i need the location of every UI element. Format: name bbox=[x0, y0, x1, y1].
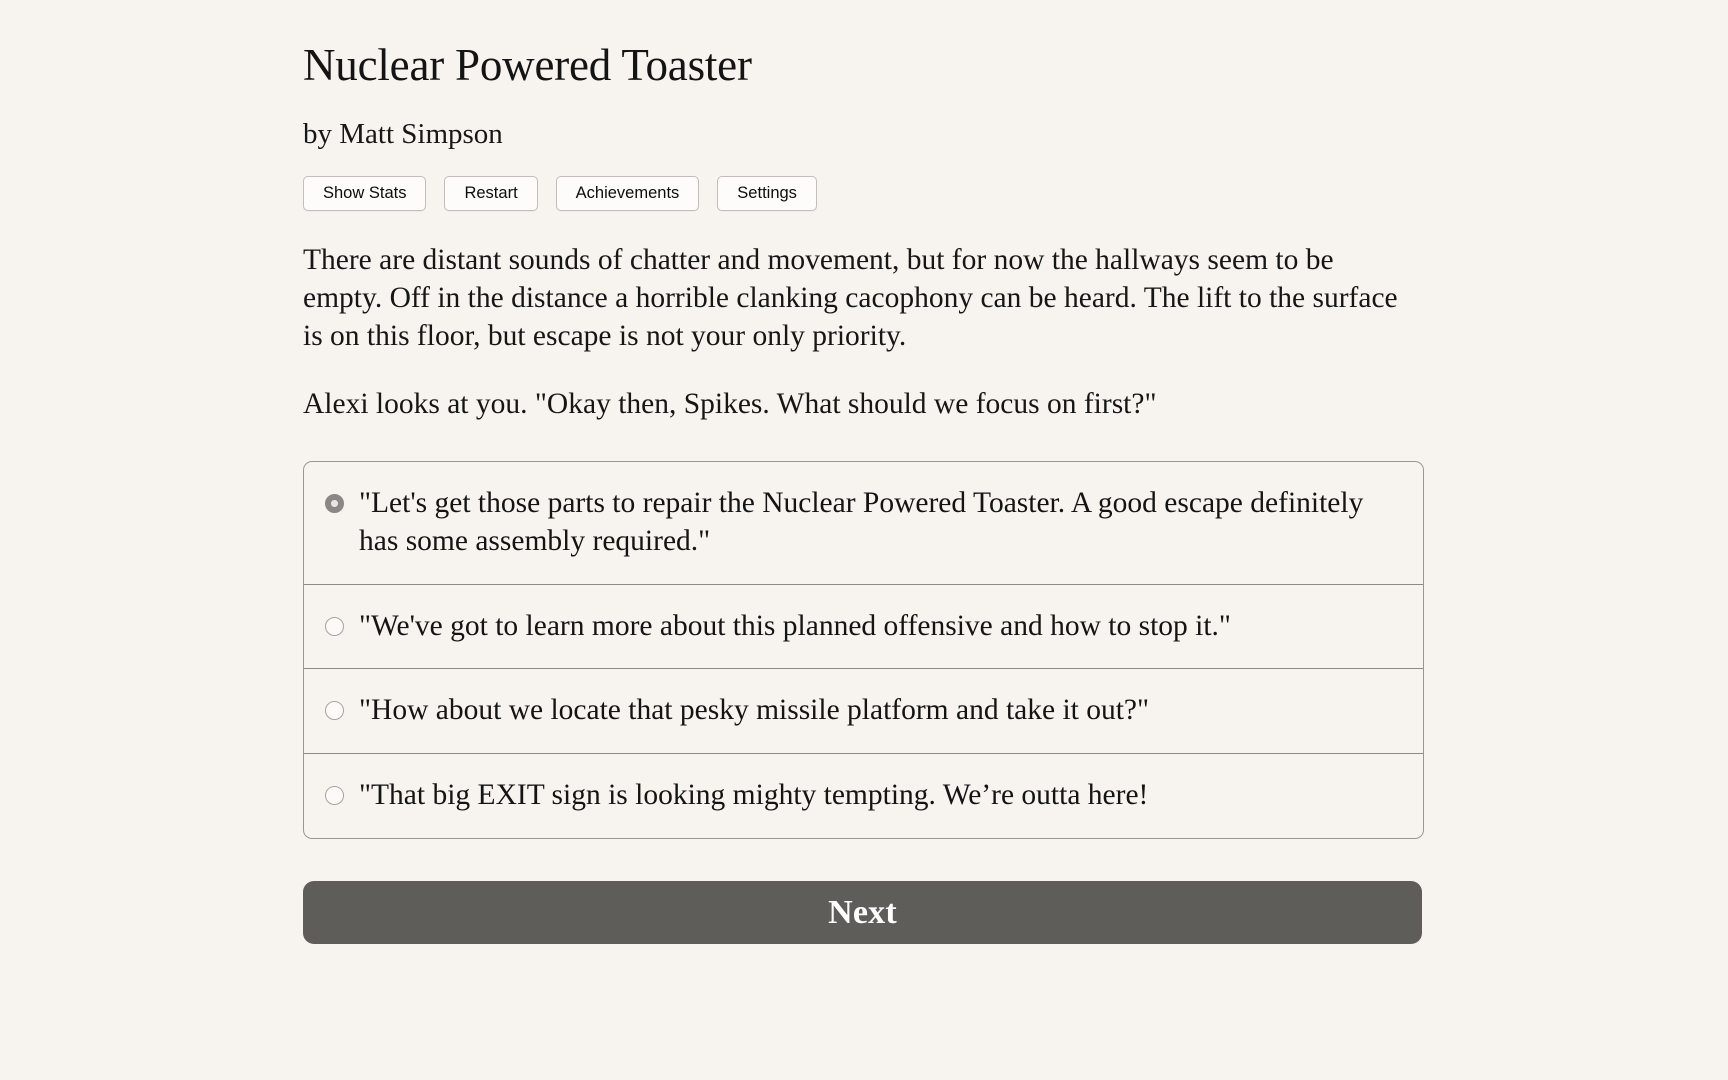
narrative-paragraph: Alexi looks at you. "Okay then, Spikes. … bbox=[303, 385, 1411, 423]
narrative-paragraph: There are distant sounds of chatter and … bbox=[303, 241, 1411, 355]
settings-button[interactable]: Settings bbox=[717, 176, 817, 212]
radio-button-icon[interactable] bbox=[325, 786, 344, 805]
choice-option-label: "We've got to learn more about this plan… bbox=[359, 608, 1401, 646]
choice-option-label: "That big EXIT sign is looking mighty te… bbox=[359, 777, 1401, 815]
choice-option-label: "How about we locate that pesky missile … bbox=[359, 692, 1401, 730]
next-button[interactable]: Next bbox=[303, 881, 1422, 944]
choice-option-1[interactable]: "Let's get those parts to repair the Nuc… bbox=[304, 462, 1423, 584]
choice-option-4[interactable]: "That big EXIT sign is looking mighty te… bbox=[304, 753, 1423, 838]
page-title: Nuclear Powered Toaster bbox=[303, 0, 1423, 92]
restart-button[interactable]: Restart bbox=[444, 176, 537, 212]
radio-button-icon[interactable] bbox=[325, 701, 344, 720]
narrative-text: There are distant sounds of chatter and … bbox=[303, 241, 1423, 423]
achievements-button[interactable]: Achievements bbox=[556, 176, 700, 212]
radio-button-icon[interactable] bbox=[325, 617, 344, 636]
choice-list: "Let's get those parts to repair the Nuc… bbox=[303, 461, 1424, 839]
choice-option-3[interactable]: "How about we locate that pesky missile … bbox=[304, 668, 1423, 753]
story-content: Nuclear Powered Toaster by Matt Simpson … bbox=[303, 0, 1423, 944]
choice-option-2[interactable]: "We've got to learn more about this plan… bbox=[304, 584, 1423, 669]
story-byline: by Matt Simpson bbox=[303, 117, 1423, 152]
story-page: Nuclear Powered Toaster by Matt Simpson … bbox=[0, 0, 1728, 1080]
choice-option-label: "Let's get those parts to repair the Nuc… bbox=[359, 485, 1401, 561]
radio-button-icon[interactable] bbox=[325, 494, 344, 513]
toolbar: Show Stats Restart Achievements Settings bbox=[303, 176, 1423, 212]
show-stats-button[interactable]: Show Stats bbox=[303, 176, 426, 212]
